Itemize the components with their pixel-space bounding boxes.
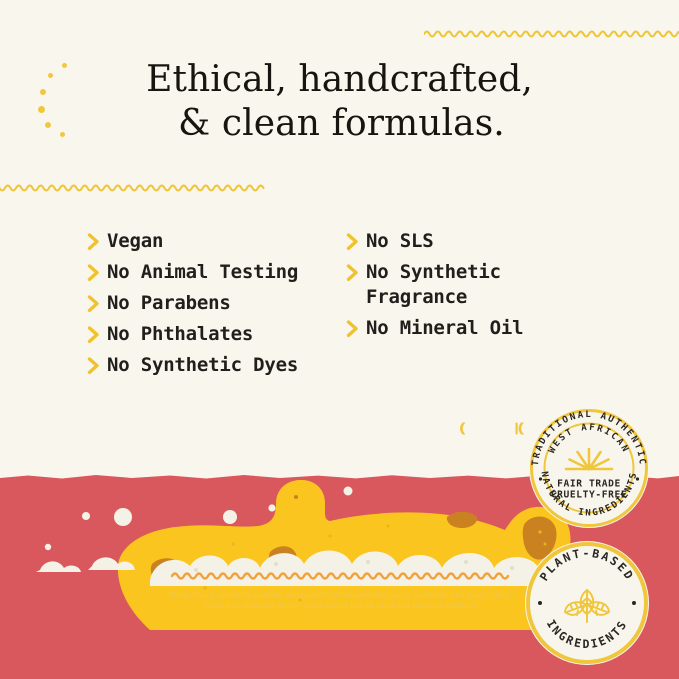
chevron-right-icon bbox=[86, 292, 102, 316]
wavy-line-top-right bbox=[424, 28, 679, 38]
list-item: No SLS bbox=[345, 229, 585, 254]
crescent-accent-decoration bbox=[460, 423, 525, 435]
chevron-right-icon bbox=[345, 261, 361, 285]
plant-based-ingredients-seal: PLANT-BASED INGREDIENTS bbox=[524, 540, 650, 666]
wavy-line-bottom-left bbox=[0, 182, 266, 192]
feature-list-left: Vegan No Animal Testing No Parabens No P… bbox=[86, 229, 346, 384]
list-item: No Parabens bbox=[86, 291, 346, 316]
seal-center-line-2: CRUELTY-FREE bbox=[551, 490, 628, 501]
list-item: Vegan bbox=[86, 229, 346, 254]
list-item: No Synthetic Fragrance bbox=[345, 260, 585, 310]
page-title: Ethical, handcrafted, & clean formulas. bbox=[0, 58, 679, 146]
feature-list-right: No SLS No Synthetic Fragrance No Mineral… bbox=[345, 229, 585, 347]
headline-line-1: Ethical, handcrafted, bbox=[0, 58, 679, 102]
chevron-right-icon bbox=[86, 323, 102, 347]
chevron-right-icon bbox=[345, 230, 361, 254]
traditional-authentic-seal: TRADITIONAL AUTHENTIC NATURAL INGREDIENT… bbox=[528, 407, 650, 529]
feature-label: Vegan bbox=[107, 229, 163, 254]
headline-line-2: & clean formulas. bbox=[0, 102, 679, 146]
chevron-right-icon bbox=[345, 317, 361, 341]
feature-label: No Animal Testing bbox=[107, 260, 298, 285]
chevron-right-icon bbox=[86, 230, 102, 254]
feature-label: No Phthalates bbox=[107, 322, 253, 347]
seal-center-line-1: FAIR TRADE bbox=[557, 479, 621, 490]
feature-label: No SLS bbox=[366, 229, 433, 254]
chevron-right-icon bbox=[86, 261, 102, 285]
disclaimer-line-1: Some of our products contain animal-deri… bbox=[120, 590, 560, 601]
disclaimer-text: Some of our products contain animal-deri… bbox=[120, 590, 560, 611]
chevron-right-icon bbox=[86, 354, 102, 378]
list-item: No Phthalates bbox=[86, 322, 346, 347]
feature-label: No Synthetic Dyes bbox=[107, 353, 298, 378]
feature-label: No Mineral Oil bbox=[366, 316, 523, 341]
infographic-canvas: Ethical, handcrafted, & clean formulas. … bbox=[0, 0, 679, 679]
list-item: No Mineral Oil bbox=[345, 316, 585, 341]
list-item: No Synthetic Dyes bbox=[86, 353, 346, 378]
disclaimer-line-2: These are included on the ingredients li… bbox=[120, 601, 560, 612]
feature-label: No Parabens bbox=[107, 291, 231, 316]
list-item: No Animal Testing bbox=[86, 260, 346, 285]
feature-label: No Synthetic Fragrance bbox=[366, 260, 501, 310]
